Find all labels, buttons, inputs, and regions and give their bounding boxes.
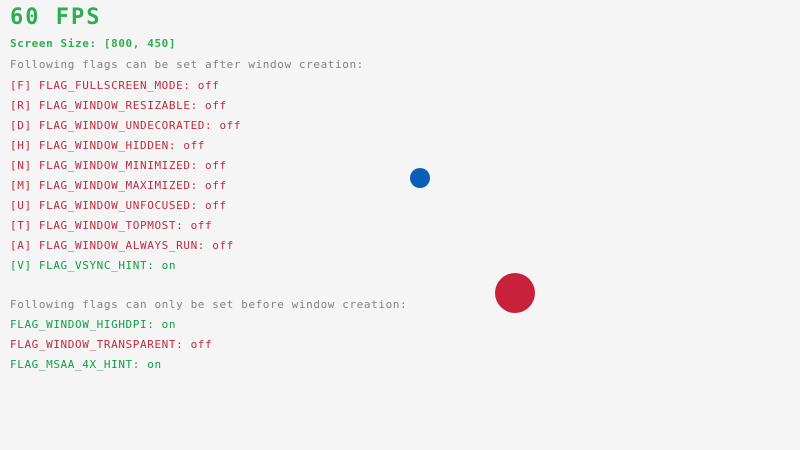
ball-blue-circle [410,168,430,188]
flag-row-flag-window-always-run[interactable]: [A] FLAG_WINDOW_ALWAYS_RUN: off [10,240,234,251]
flag-row-flag-msaa-4x-hint[interactable]: FLAG_MSAA_4X_HINT: on [10,359,162,370]
game-canvas[interactable]: 60 FPS Screen Size: [800, 450] Following… [0,0,800,450]
flag-row-flag-window-topmost[interactable]: [T] FLAG_WINDOW_TOPMOST: off [10,220,212,231]
flag-row-flag-window-minimized[interactable]: [N] FLAG_WINDOW_MINIMIZED: off [10,160,227,171]
flag-row-flag-window-maximized[interactable]: [M] FLAG_WINDOW_MAXIMIZED: off [10,180,227,191]
ball-red-circle [495,273,535,313]
flag-row-flag-window-unfocused[interactable]: [U] FLAG_WINDOW_UNFOCUSED: off [10,200,227,211]
runtime-flags-heading: Following flags can be set after window … [10,59,364,70]
flag-row-flag-window-undecorated[interactable]: [D] FLAG_WINDOW_UNDECORATED: off [10,120,241,131]
fps-counter: 60 FPS [10,7,101,29]
flag-row-flag-vsync-hint[interactable]: [V] FLAG_VSYNC_HINT: on [10,260,176,271]
flag-row-flag-window-highdpi[interactable]: FLAG_WINDOW_HIGHDPI: on [10,319,176,330]
flag-row-flag-window-resizable[interactable]: [R] FLAG_WINDOW_RESIZABLE: off [10,100,227,111]
flag-row-flag-fullscreen-mode[interactable]: [F] FLAG_FULLSCREEN_MODE: off [10,80,219,91]
flag-row-flag-window-hidden[interactable]: [H] FLAG_WINDOW_HIDDEN: off [10,140,205,151]
screen-size-label: Screen Size: [800, 450] [10,38,176,49]
creation-flags-heading: Following flags can only be set before w… [10,299,407,310]
flag-row-flag-window-transparent[interactable]: FLAG_WINDOW_TRANSPARENT: off [10,339,212,350]
